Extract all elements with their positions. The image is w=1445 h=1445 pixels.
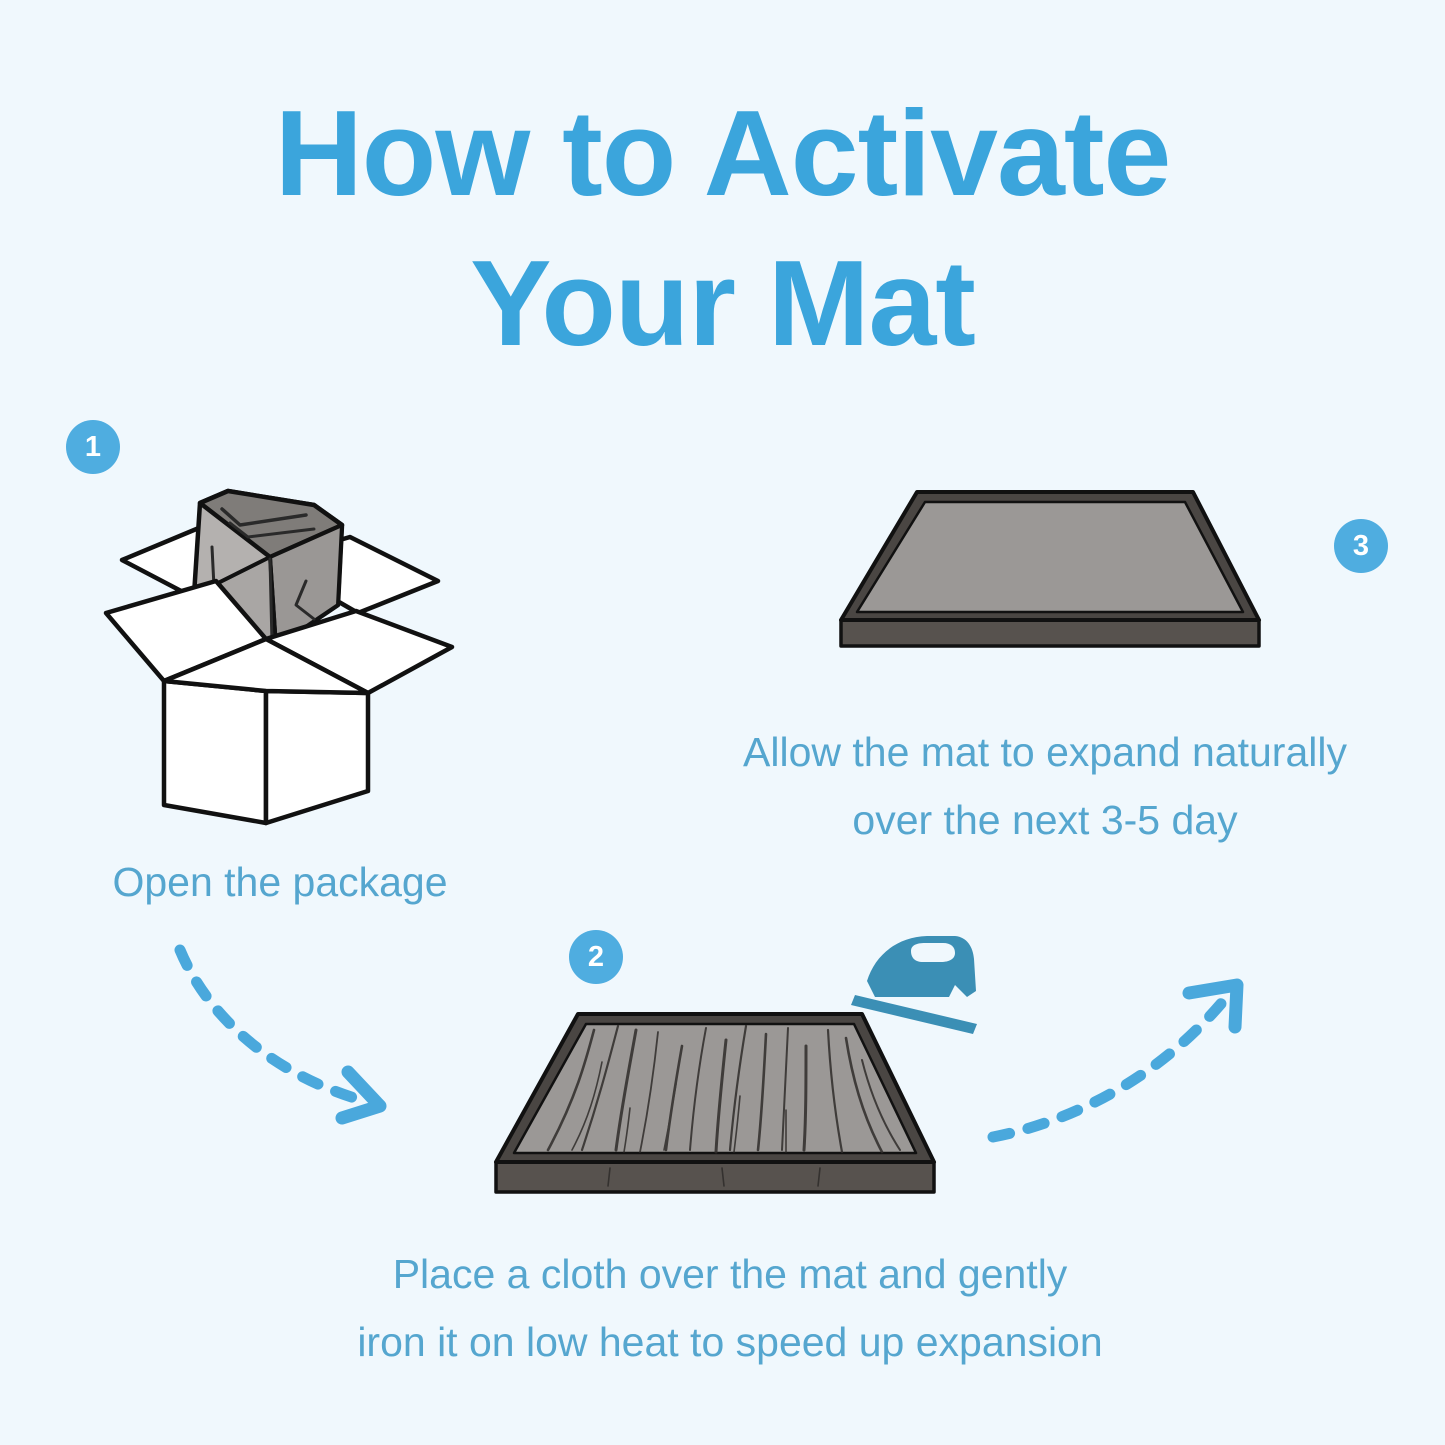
- iron-icon: [845, 925, 995, 1040]
- infographic-canvas: How to Activate Your Mat 1: [0, 0, 1445, 1445]
- step-badge-1: 1: [66, 420, 120, 474]
- page-title-line-1: How to Activate: [0, 78, 1445, 228]
- flat-mat-illustration: [835, 470, 1285, 670]
- step-2-caption: Place a cloth over the mat and gently ir…: [210, 1240, 1250, 1376]
- step-badge-2: 2: [569, 930, 623, 984]
- step-3-caption: Allow the mat to expand naturally over t…: [660, 718, 1430, 854]
- flat-mat-icon: [835, 470, 1285, 670]
- page-title: How to Activate Your Mat: [0, 78, 1445, 378]
- iron-illustration: [845, 925, 995, 1040]
- dashed-arrow-down-right-icon: [170, 930, 470, 1130]
- dashed-arrow-up-right-icon: [985, 965, 1285, 1165]
- step-badge-3: 3: [1334, 519, 1388, 573]
- open-box-illustration: [100, 485, 460, 825]
- page-title-line-2: Your Mat: [0, 228, 1445, 378]
- step-1-caption: Open the package: [20, 848, 540, 916]
- open-box-icon: [100, 485, 460, 825]
- arrow-step2-to-step3: [985, 965, 1285, 1165]
- arrow-step1-to-step2: [170, 930, 470, 1130]
